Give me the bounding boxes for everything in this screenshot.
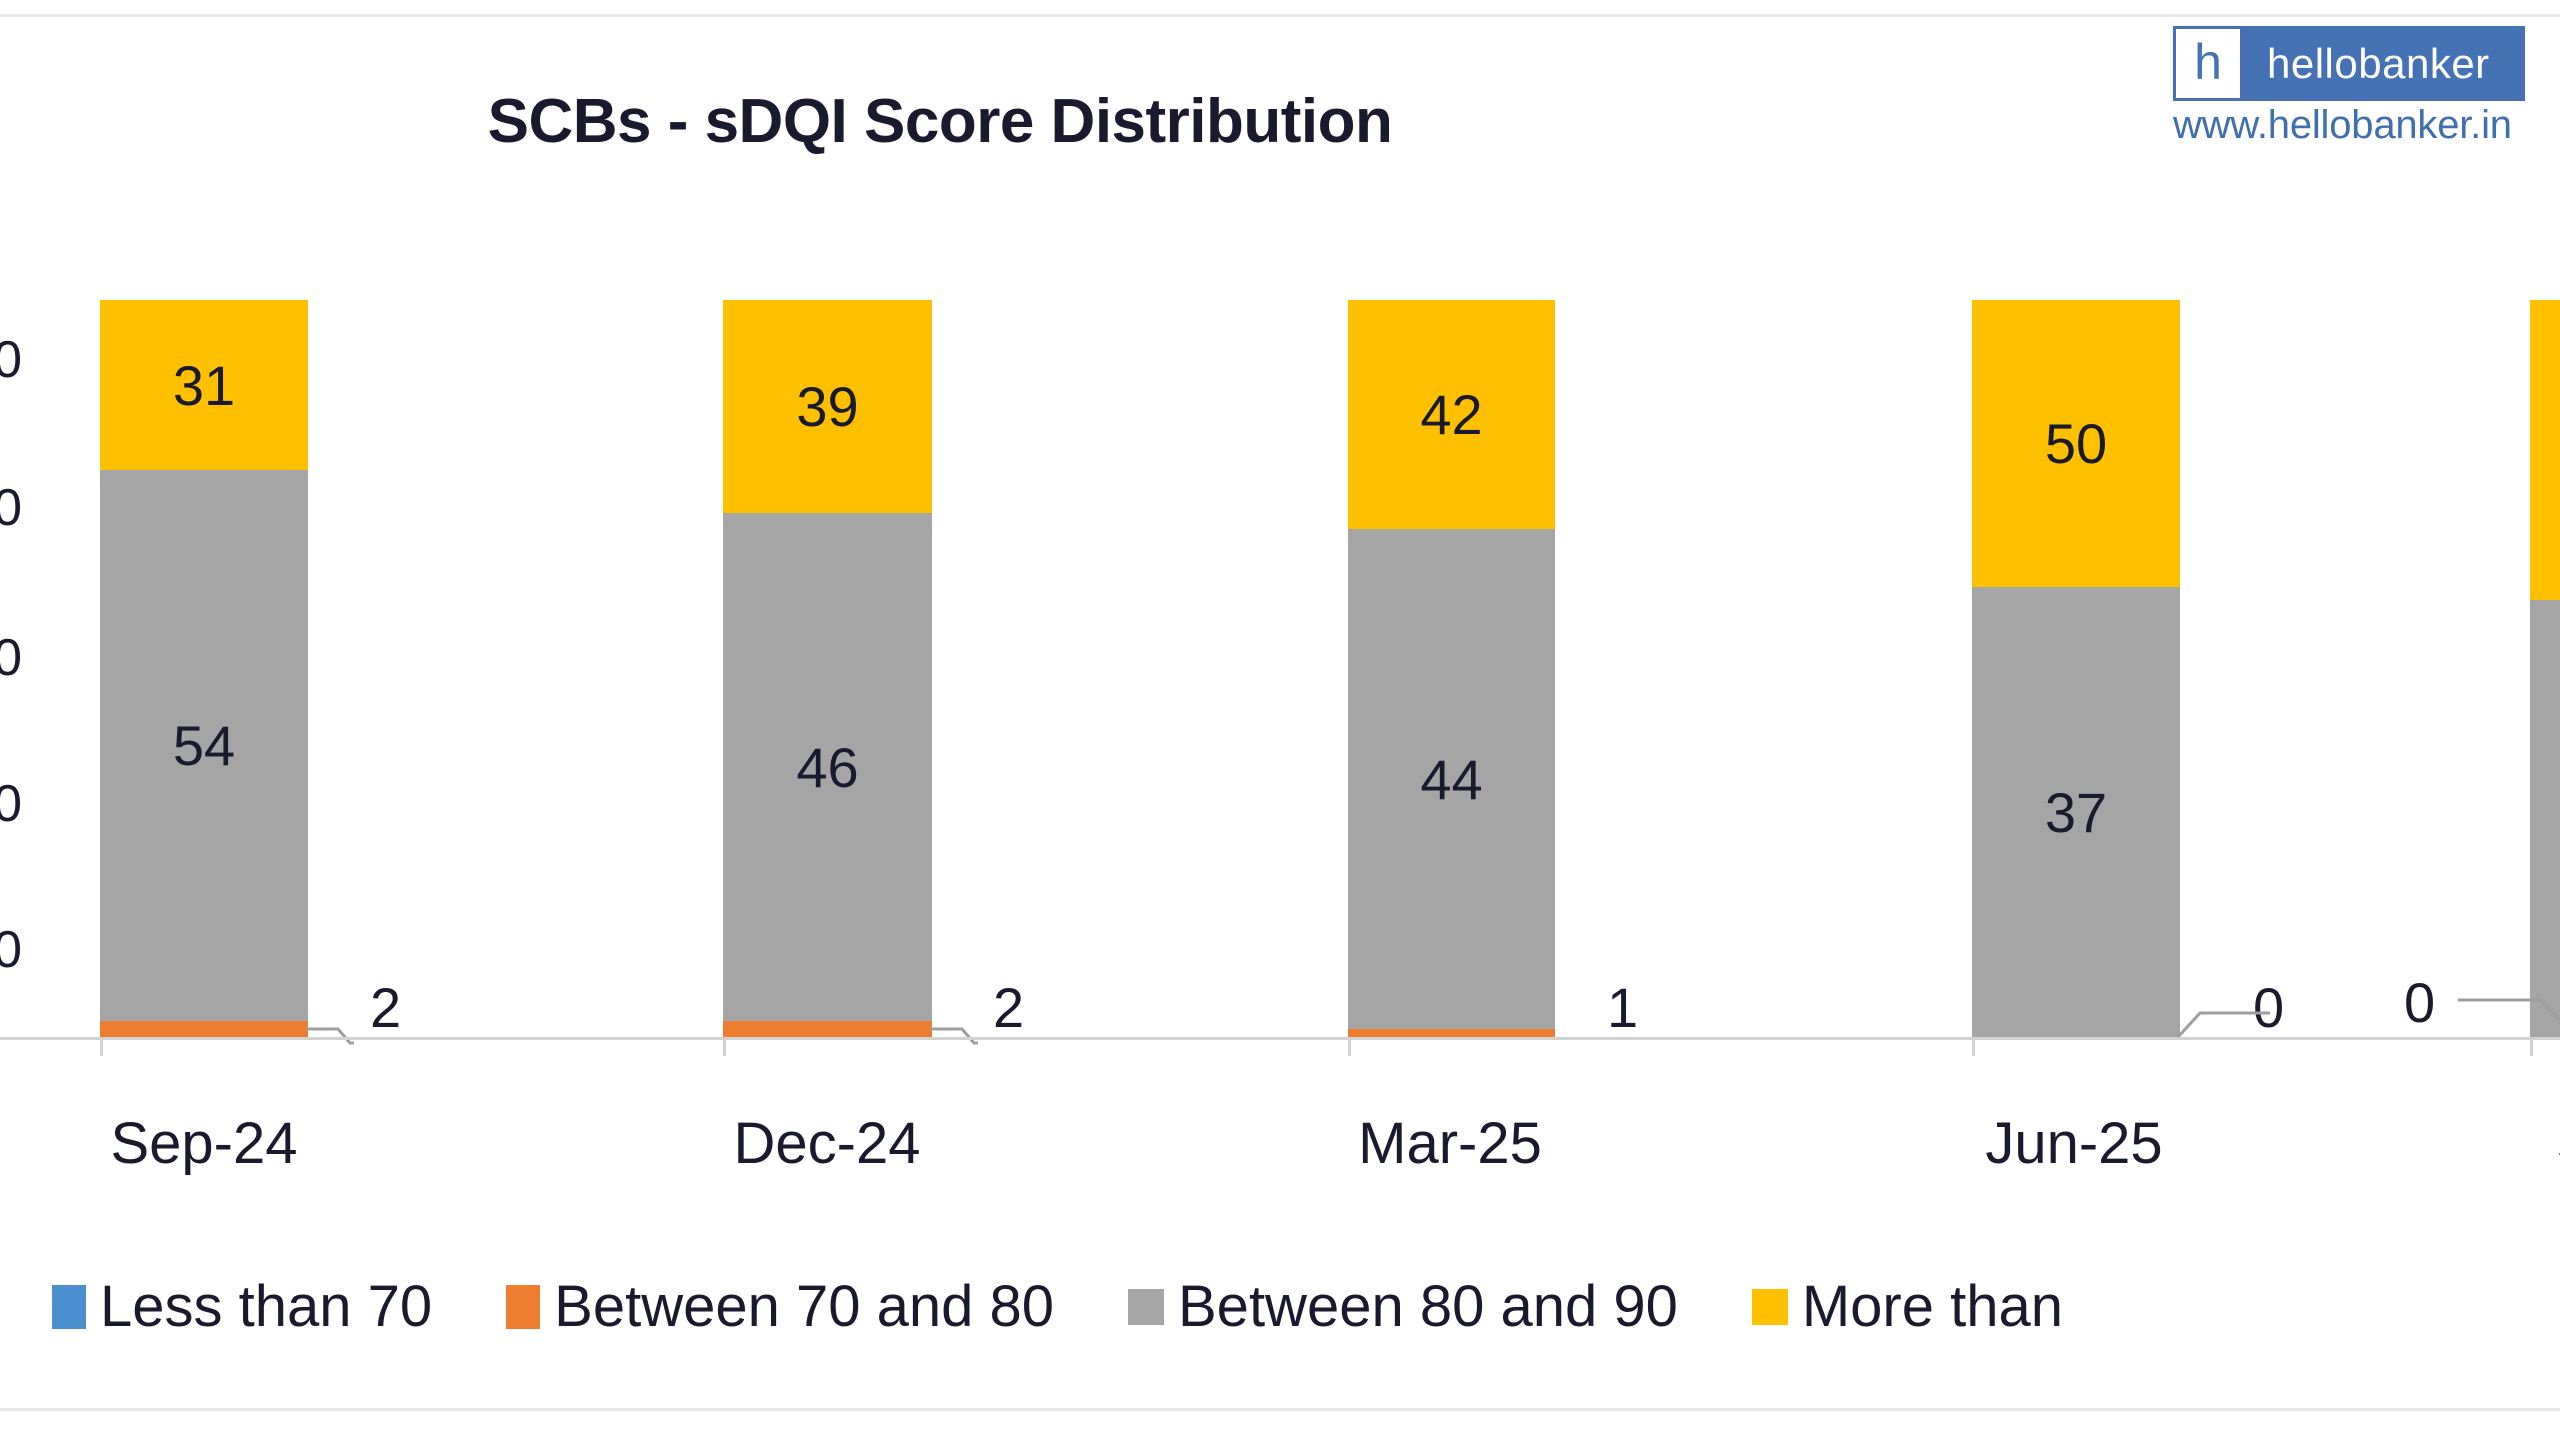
- bar-column-dec-24[interactable]: 4639: [723, 0, 932, 1440]
- x-axis-tick-mark: [723, 1040, 726, 1056]
- bar-segment-yellow[interactable]: 39: [723, 300, 932, 513]
- legend-label: Less than 70: [100, 1278, 432, 1336]
- x-axis-tick-label: Mar-25: [1250, 1110, 1650, 1177]
- bar-data-label: 50: [2045, 411, 2107, 476]
- legend-item-between-80-and-90[interactable]: Between 80 and 90: [1128, 1278, 1678, 1336]
- bar-segment-gray[interactable]: 46: [723, 513, 932, 1021]
- x-axis-tick-mark: [100, 1040, 103, 1056]
- bar-data-label: 46: [796, 735, 858, 800]
- bar-data-label: 44: [1420, 747, 1482, 812]
- bar-data-label: 42: [1420, 382, 1482, 447]
- legend-swatch-blue-icon: [52, 1285, 86, 1329]
- x-axis-tick-label: Dec-24: [627, 1110, 1027, 1177]
- chart-plot-area: 00000 543124639244421375000 Sep-24Dec-24…: [0, 0, 2560, 1440]
- y-axis-tick-label: 0: [0, 920, 22, 980]
- bar-column-sep-25[interactable]: [2530, 0, 2560, 1440]
- bar-data-label: 54: [173, 713, 235, 778]
- x-axis-tick-mark: [1348, 1040, 1351, 1056]
- bar-segment-gray[interactable]: 37: [1972, 587, 2180, 1037]
- x-axis-line: [0, 1037, 2560, 1040]
- bar-data-label: 39: [796, 374, 858, 439]
- bar-segment-yellow[interactable]: [2530, 300, 2560, 600]
- bar-segment-orange[interactable]: [723, 1021, 932, 1037]
- x-axis-tick-label: Sep-24: [4, 1110, 404, 1177]
- bar-segment-yellow[interactable]: 42: [1348, 300, 1555, 529]
- y-axis-tick-label: 0: [0, 774, 22, 834]
- x-axis-tick-mark: [2530, 1040, 2533, 1056]
- bar-segment-orange[interactable]: [1348, 1029, 1555, 1037]
- bar-segment-orange[interactable]: [100, 1021, 308, 1037]
- chart-legend: Less than 70 Between 70 and 80 Between 8…: [52, 1278, 2137, 1336]
- bar-segment-gray[interactable]: 54: [100, 470, 308, 1021]
- legend-item-more-than-90[interactable]: More than: [1752, 1278, 2063, 1336]
- legend-label: Between 70 and 80: [554, 1278, 1054, 1336]
- bar-callout-label-sep-25: 0: [2404, 970, 2435, 1035]
- legend-item-less-than-70[interactable]: Less than 70: [52, 1278, 432, 1336]
- bar-column-sep-24[interactable]: 5431: [100, 0, 308, 1440]
- bar-column-mar-25[interactable]: 4442: [1348, 0, 1555, 1440]
- callout-leader-line: [2174, 965, 2314, 1045]
- callout-leader-line: [2454, 960, 2560, 1040]
- bar-data-label: 37: [2045, 780, 2107, 845]
- bar-segment-yellow[interactable]: 50: [1972, 300, 2180, 587]
- bar-segment-gray[interactable]: 44: [1348, 529, 1555, 1029]
- legend-swatch-yellow-icon: [1752, 1289, 1788, 1325]
- legend-swatch-gray-icon: [1128, 1289, 1164, 1325]
- bar-data-label: 31: [173, 353, 235, 418]
- y-axis-tick-label: 0: [0, 478, 22, 538]
- bar-column-jun-25[interactable]: 3750: [1972, 0, 2180, 1440]
- legend-item-between-70-and-80[interactable]: Between 70 and 80: [506, 1278, 1054, 1336]
- callout-leader-line: [302, 985, 442, 1065]
- legend-label: Between 80 and 90: [1178, 1278, 1678, 1336]
- legend-swatch-orange-icon: [506, 1285, 540, 1329]
- x-axis-tick-label: Sep-25: [2450, 1110, 2560, 1177]
- legend-label: More than: [1802, 1278, 2063, 1336]
- x-axis-tick-label: Jun-25: [1874, 1110, 2274, 1177]
- bar-segment-yellow[interactable]: 31: [100, 300, 308, 470]
- y-axis-tick-label: 0: [0, 330, 22, 390]
- x-axis-tick-mark: [1972, 1040, 1975, 1056]
- bar-callout-label-mar-25: 1: [1607, 975, 1638, 1040]
- callout-leader-line: [926, 985, 1066, 1065]
- y-axis-tick-label: 0: [0, 628, 22, 688]
